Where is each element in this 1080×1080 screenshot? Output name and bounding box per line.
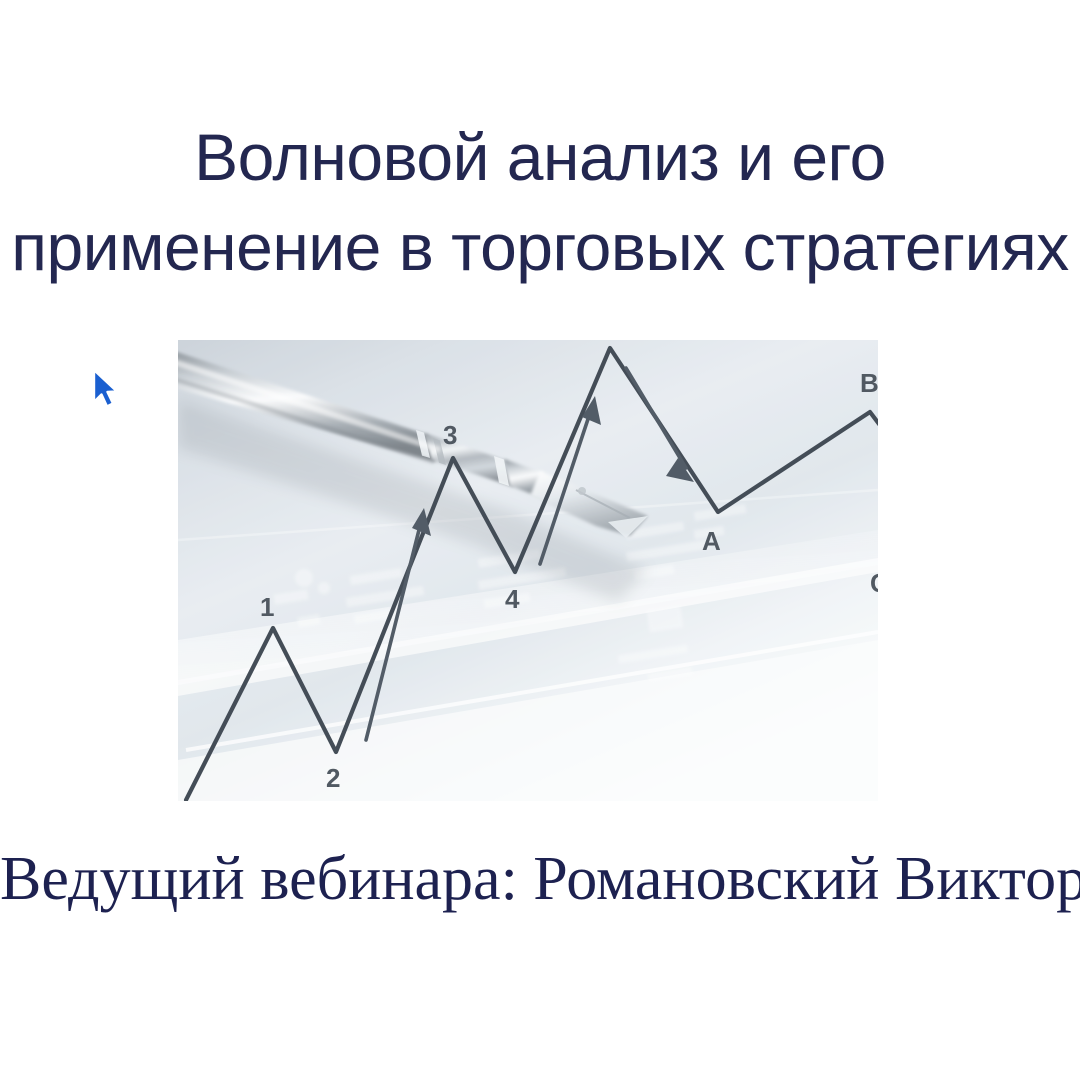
wave-label-C-group: C <box>870 568 878 598</box>
wave-label-B: B <box>860 368 878 398</box>
wave-label-4: 4 <box>505 584 520 614</box>
wave-label-2: 2 <box>326 763 340 793</box>
slide-canvas: Волновой анализ и его применение в торго… <box>0 0 1080 1080</box>
wave-label-3: 3 <box>443 420 457 450</box>
slide-image-elliott-wave-photo: 1 2 3 4 A B B C C <box>178 340 878 801</box>
wave-label-C: C <box>870 568 878 598</box>
mouse-pointer-icon <box>88 366 122 414</box>
presenter-line: Ведущий вебинара: Романовский Виктор <box>0 836 1080 922</box>
wave-label-1: 1 <box>260 592 274 622</box>
slide-title: Волновой анализ и его применение в торго… <box>0 112 1080 292</box>
title-line-1: Волновой анализ и его <box>0 112 1080 202</box>
title-line-2: применение в торговых стратегиях <box>0 202 1080 292</box>
wave-label-A: A <box>702 526 721 556</box>
